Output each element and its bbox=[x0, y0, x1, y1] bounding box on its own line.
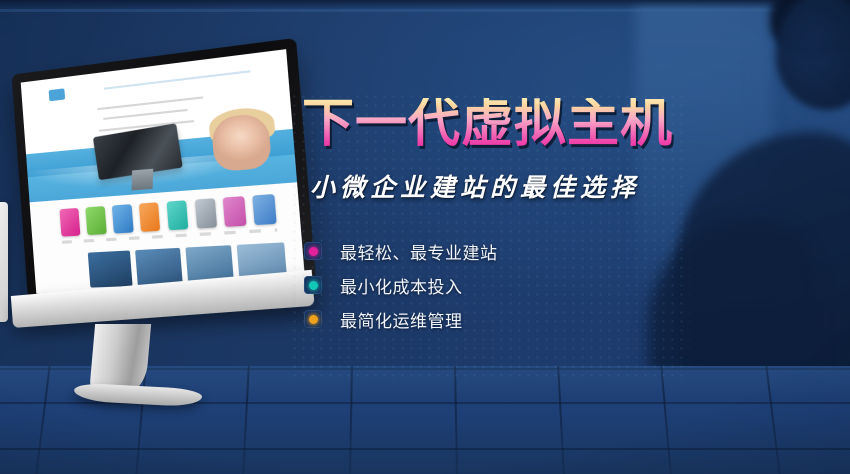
website-logo-icon bbox=[48, 88, 65, 101]
banner-headline: 下一代虚拟主机 bbox=[302, 98, 722, 150]
imac-screen bbox=[21, 49, 306, 294]
bullet-dot-icon bbox=[304, 242, 322, 260]
feature-item: 最轻松、最专业建站 bbox=[304, 234, 722, 268]
bullet-dot-icon bbox=[304, 310, 322, 328]
bullet-dot-icon bbox=[304, 276, 322, 294]
banner-subheadline: 小微企业建站的最佳选择 bbox=[310, 168, 722, 204]
website-app-icon bbox=[139, 202, 161, 232]
feature-label: 最小化成本投入 bbox=[340, 273, 463, 298]
website-hero-stand bbox=[131, 169, 153, 191]
website-app-icon bbox=[253, 194, 277, 226]
feature-label: 最轻松、最专业建站 bbox=[340, 239, 498, 264]
feature-item: 最简化运维管理 bbox=[304, 302, 722, 336]
imac-monitor bbox=[6, 74, 296, 404]
imac-bezel bbox=[12, 38, 318, 306]
website-app-icon bbox=[59, 208, 80, 237]
website-app-icon bbox=[85, 206, 106, 235]
website-app-icon bbox=[223, 196, 247, 227]
feature-item: 最小化成本投入 bbox=[304, 268, 722, 302]
website-thumbnail bbox=[135, 248, 182, 286]
person-head bbox=[776, 0, 850, 110]
website-app-icon bbox=[112, 204, 134, 234]
feature-label: 最简化运维管理 bbox=[340, 307, 463, 332]
website-app-icon bbox=[194, 198, 217, 229]
floor-grid-line bbox=[0, 448, 850, 450]
website-thumbnail bbox=[88, 250, 133, 287]
imac-stand-foot bbox=[74, 383, 203, 408]
banner-copy: 下一代虚拟主机 小微企业建站的最佳选择 最轻松、最专业建站 最小化成本投入 最简… bbox=[302, 98, 722, 336]
website-app-icon bbox=[166, 200, 189, 231]
hero-banner: 下一代虚拟主机 小微企业建站的最佳选择 最轻松、最专业建站 最小化成本投入 最简… bbox=[0, 0, 850, 474]
feature-list: 最轻松、最专业建站 最小化成本投入 最简化运维管理 bbox=[304, 234, 722, 336]
